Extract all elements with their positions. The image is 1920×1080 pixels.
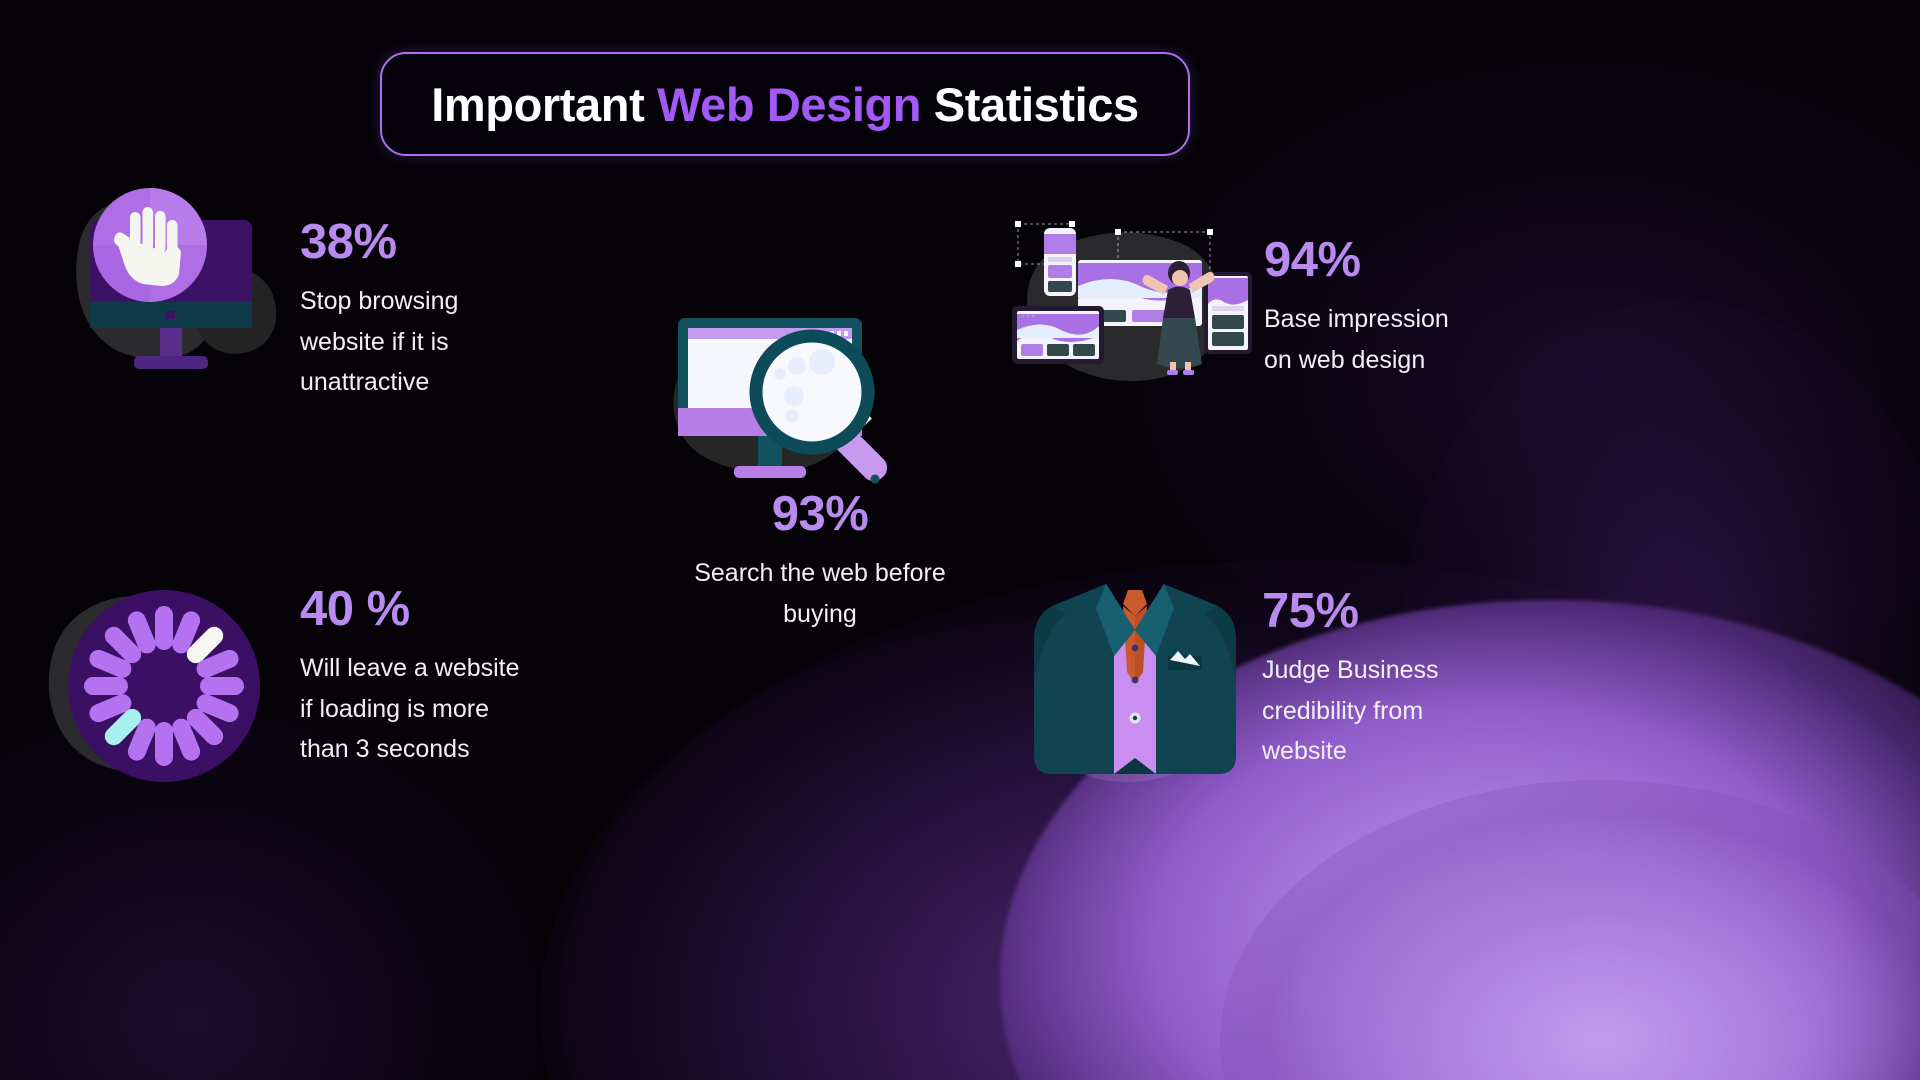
desc-line: website [1262,731,1592,772]
stat-base-impression: 94% Base impression on web design [1000,200,1740,430]
stat-percent: 38% [300,218,580,267]
desc-line: Will leave a website [300,648,600,689]
desc-line: Search the web before [600,553,1040,594]
stat-description: Judge Business credibility from website [1262,650,1592,772]
title-prefix: Important [431,78,657,131]
stat-description: Will leave a website if loading is more … [300,648,600,770]
page-title-box: Important Web Design Statistics [380,52,1190,156]
loading-spinner-icon [36,564,286,794]
desc-line: on web design [1264,340,1594,381]
stat-percent: 93% [600,490,1040,539]
title-suffix: Statistics [921,78,1139,131]
stat-description: Search the web before buying [600,553,1040,634]
monitor-stop-hand-icon [62,180,292,390]
title-accent: Web Design [657,78,921,131]
stat-percent: 40 % [300,585,600,634]
stat-description: Stop browsing website if it is unattract… [300,281,580,403]
stat-percent: 94% [1264,236,1594,285]
desc-line: credibility from [1262,691,1592,732]
desc-line: Stop browsing [300,281,580,322]
stat-loading-speed: 40 % Will leave a website if loading is … [36,560,596,810]
stat-base-impression-text: 94% Base impression on web design [1264,236,1594,380]
suit-jacket-icon [1010,560,1260,810]
monitor-magnifier-icon [652,300,952,510]
stat-percent: 75% [1262,587,1592,636]
desc-line: unattractive [300,362,580,403]
stat-business-credibility: 75% Judge Business credibility from webs… [1010,555,1770,815]
stat-search-web: 93% Search the web before buying [600,300,1040,630]
desc-line: than 3 seconds [300,729,600,770]
stat-business-credibility-text: 75% Judge Business credibility from webs… [1262,587,1592,772]
stat-stop-browsing-text: 38% Stop browsing website if it is unatt… [300,218,580,403]
desc-line: buying [600,594,1040,635]
stat-description: Base impression on web design [1264,299,1594,380]
desc-line: Base impression [1264,299,1594,340]
stat-stop-browsing: 38% Stop browsing website if it is unatt… [62,170,582,420]
page-title: Important Web Design Statistics [431,77,1139,132]
desc-line: website if it is [300,322,580,363]
stat-loading-speed-text: 40 % Will leave a website if loading is … [300,585,600,770]
desc-line: Judge Business [1262,650,1592,691]
desc-line: if loading is more [300,689,600,730]
stat-search-web-text: 93% Search the web before buying [600,490,1040,634]
